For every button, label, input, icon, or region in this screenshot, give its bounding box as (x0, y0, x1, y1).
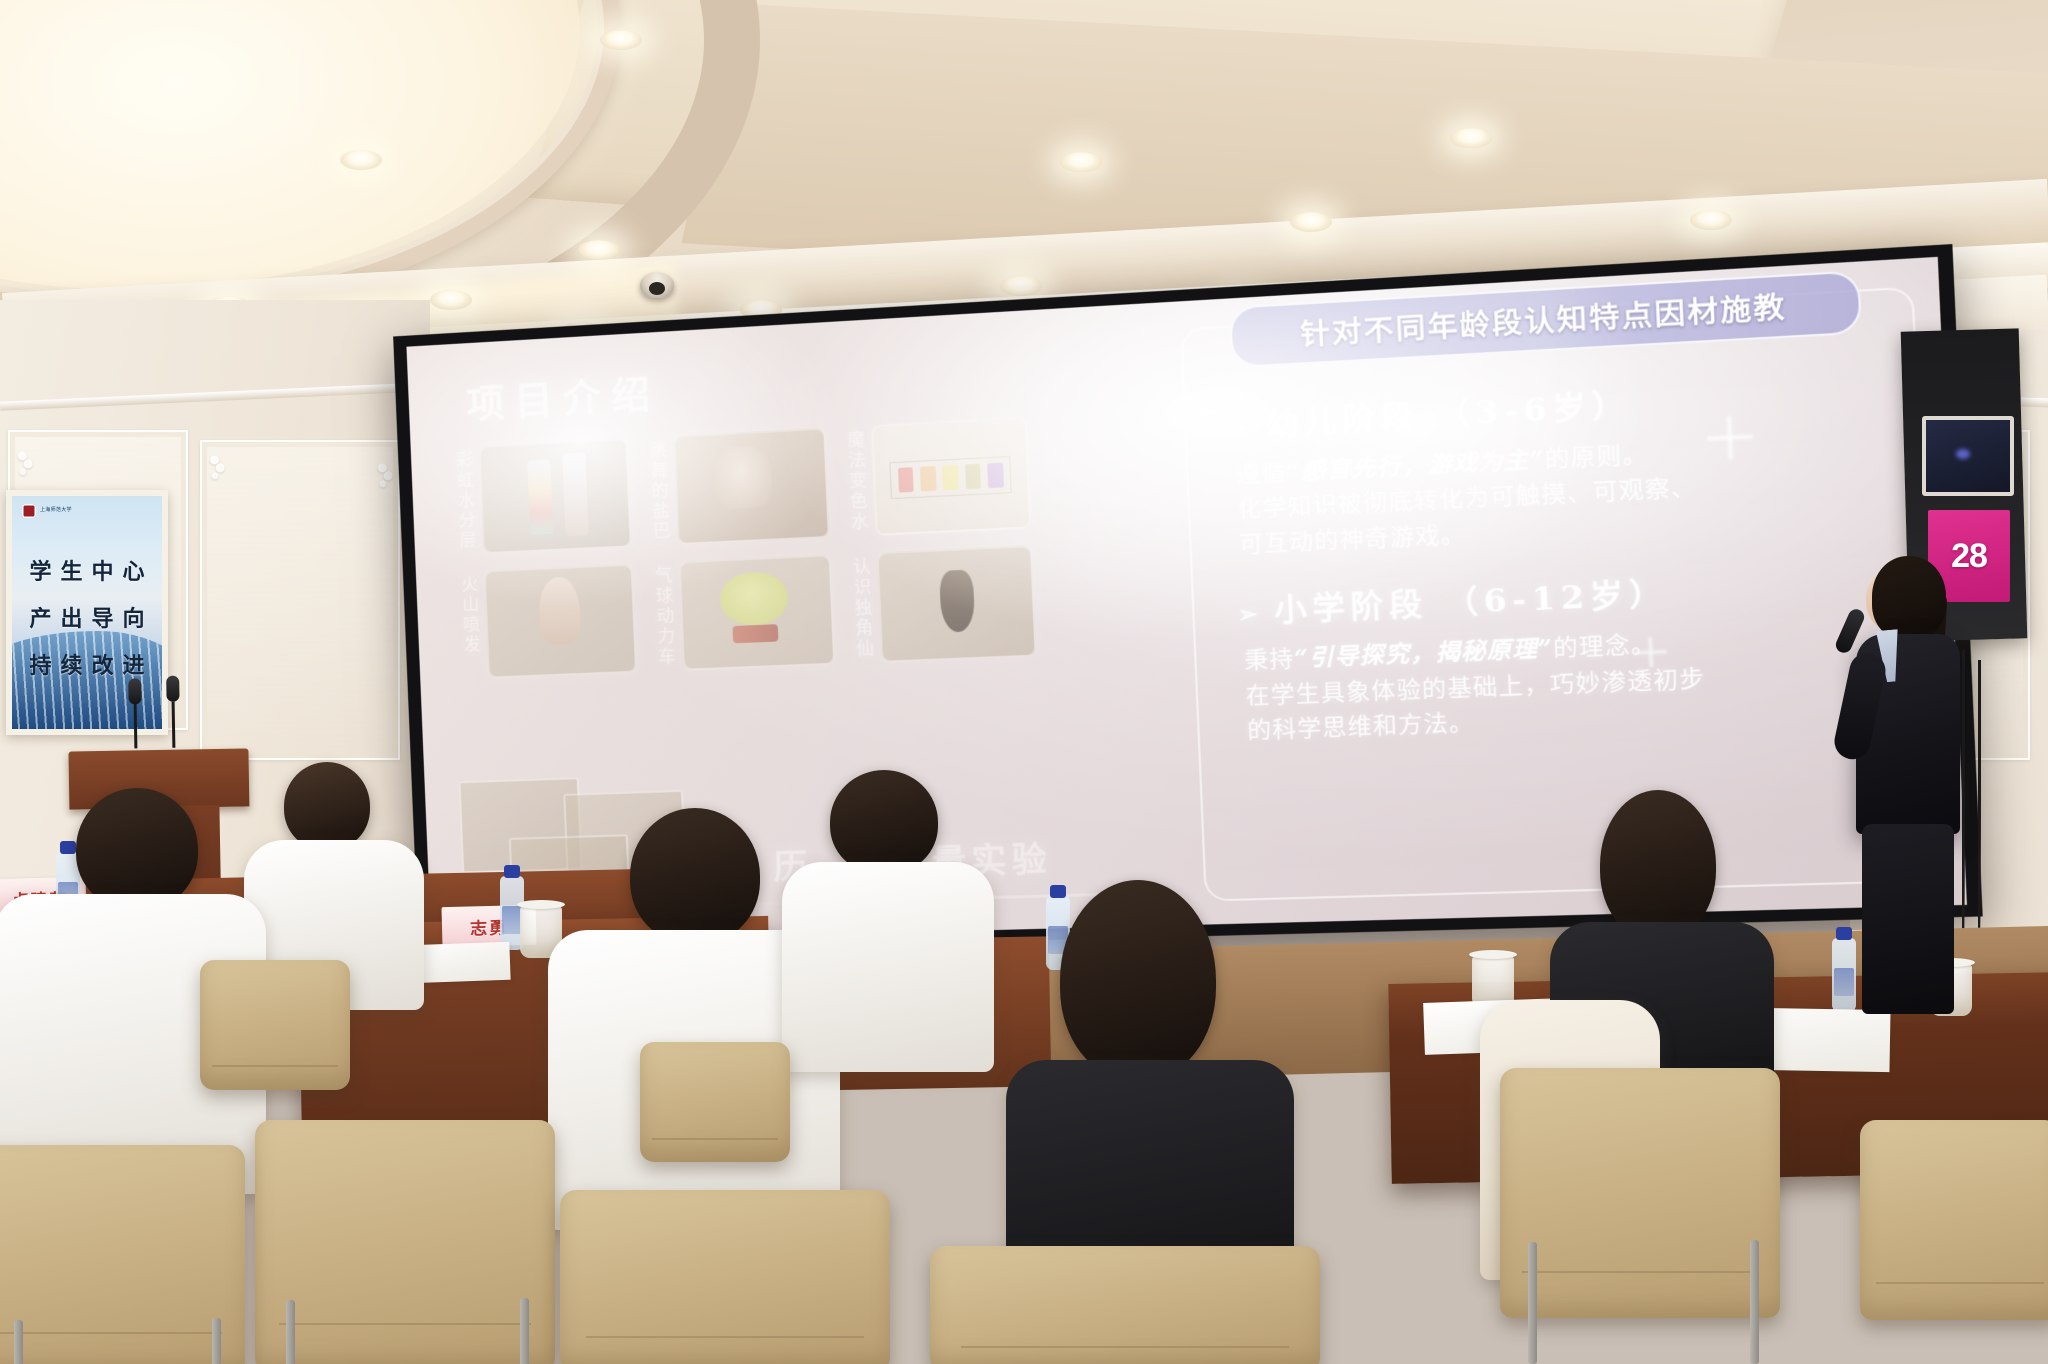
chair-leg (1528, 1242, 1537, 1364)
project-thumb-grid: 彩虹水分层 火山喷发 跳舞的盐巴 (450, 410, 1167, 680)
slide-right-title: 针对不同年龄段认知特点因材施教 (1229, 270, 1862, 368)
swatch-purple (987, 462, 1004, 488)
downlight-icon (1000, 276, 1042, 296)
thumb-image-volcano (484, 563, 638, 678)
bullet-arrow-icon: ➢ (1229, 414, 1256, 442)
thumb-label: 魔法变色水 (841, 426, 868, 538)
body-quote: “引导探究，揭秘原理” (1294, 635, 1554, 673)
age-section-heading-text: 幼儿阶段 （3-6岁） (1265, 379, 1632, 444)
thumb-column-1: 彩虹水分层 火山喷发 (450, 438, 637, 680)
chair[interactable] (0, 1145, 245, 1364)
thumb-image-color-water (871, 417, 1031, 536)
wall-slogan-poster: 上海师范大学 学生中心 产出导向 持续改进 (6, 490, 168, 735)
body-rest: 的理念。 (1552, 632, 1657, 663)
thumb-cell: 火山喷发 (456, 563, 638, 679)
thumb-label: 彩虹水分层 (450, 446, 476, 555)
downlight-icon (1450, 128, 1492, 148)
presenter-trousers (1862, 824, 1954, 1014)
thumb-column-2: 跳舞的盐巴 气球动力车 (644, 428, 835, 672)
chair[interactable] (1860, 1120, 2048, 1320)
age-section-heading-primary: ➢ 小学阶段 （6-12岁） (1237, 557, 1896, 632)
attendee-head (830, 770, 938, 874)
chair[interactable] (1500, 1068, 1780, 1318)
thumb-cell: 彩虹水分层 (450, 438, 632, 556)
poster-slogan-lines: 学生中心 产出导向 持续改进 (12, 554, 162, 680)
university-logo-text: 上海师范大学 (40, 508, 72, 514)
presenter (1820, 556, 2010, 1016)
wall-ornament-icon (204, 452, 230, 488)
wall-ornament-icon (12, 448, 38, 484)
conference-hall-scene: 上海师范大学 学生中心 产出导向 持续改进 项目介绍 彩虹水分层 (0, 0, 2048, 1364)
thumb-cell: 跳舞的盐巴 (644, 428, 830, 547)
wall-ornament-icon (372, 460, 398, 496)
wall-decor-panel (200, 440, 400, 760)
thumb-cell: 气球动力车 (649, 554, 835, 672)
thumb-image-dancing-salt (673, 428, 830, 546)
thumb-label: 火山喷发 (456, 571, 482, 680)
downlight-icon (1690, 210, 1732, 230)
poster-slogan-line-1: 学生中心 (20, 554, 153, 586)
chair[interactable] (640, 1042, 790, 1162)
university-logo: 上海师范大学 (22, 504, 72, 518)
poster-slogan-line-2: 产出导向 (20, 601, 153, 633)
color-swatch-strip (890, 456, 1013, 498)
chair[interactable] (255, 1120, 555, 1364)
bullet-arrow-icon: ➢ (1237, 601, 1264, 629)
poster-slogan-line-3: 持续改进 (20, 648, 153, 680)
chair-leg (212, 1318, 221, 1364)
thumb-image-balloon-car (678, 554, 835, 671)
thumb-label: 认识独角仙 (847, 553, 874, 665)
body-rest: 的原则。 (1544, 442, 1649, 474)
microphone-icon (166, 676, 179, 702)
attendee-head (630, 808, 760, 944)
slide-left-title: 项目介绍 (465, 334, 1156, 428)
downlight-icon (1290, 212, 1332, 232)
slide-project-introduction: 项目介绍 彩虹水分层 火山喷发 跳舞的 (406, 302, 1198, 945)
presenter-hair (1872, 556, 1946, 640)
age-section-heading-text: 小学阶段 （6-12岁） (1273, 567, 1670, 630)
age-section-body-preschool: 遵循“感官先行，游戏为主”的原则。 化学知识被彻底转化为可触摸、可观察、 可互动… (1235, 425, 1892, 563)
thumb-column-3: 魔法变色水 (841, 417, 1036, 664)
attendee-torso (782, 862, 994, 1072)
university-logo-mark (22, 504, 36, 518)
attendee-head (1060, 880, 1216, 1080)
thumb-cell: 认识独角仙 (847, 545, 1037, 664)
swatch-red (898, 467, 914, 493)
attendee-head (1600, 790, 1716, 940)
projection-screen-frame: 项目介绍 彩虹水分层 火山喷发 跳舞的 (393, 244, 1983, 956)
chair-leg (286, 1300, 295, 1364)
age-section-body-primary: 秉持“引导探究，揭秘原理”的理念。 在学生具象体验的基础上，巧妙渗透初步 的科学… (1244, 618, 1901, 749)
chair-leg (14, 1320, 23, 1364)
downlight-icon (1060, 152, 1102, 172)
chair-leg (1750, 1240, 1759, 1364)
control-monitor[interactable] (1922, 416, 2014, 496)
body-lead: 秉持 (1244, 647, 1295, 675)
swatch-yellow (942, 465, 959, 491)
swatch-olive (965, 463, 982, 489)
thumb-label: 气球动力车 (649, 562, 675, 672)
chair[interactable] (560, 1190, 890, 1364)
thumb-label: 跳舞的盐巴 (644, 436, 670, 546)
downlight-icon (430, 290, 472, 310)
thumb-cell: 魔法变色水 (841, 417, 1031, 537)
attendee-head (76, 788, 198, 910)
downlight-icon (340, 150, 382, 170)
thumb-image-rainbow-layers (479, 438, 633, 554)
chair-leg (520, 1298, 529, 1364)
chair[interactable] (930, 1246, 1320, 1364)
body-lead: 遵循 (1236, 460, 1287, 489)
swatch-orange (920, 466, 936, 492)
downlight-icon (578, 240, 620, 260)
downlight-icon (600, 30, 642, 50)
microphone-icon (128, 678, 141, 704)
chair[interactable] (200, 960, 350, 1090)
thumb-image-beetle (876, 545, 1036, 663)
attendee-head (284, 762, 370, 850)
security-camera-icon (640, 272, 674, 298)
